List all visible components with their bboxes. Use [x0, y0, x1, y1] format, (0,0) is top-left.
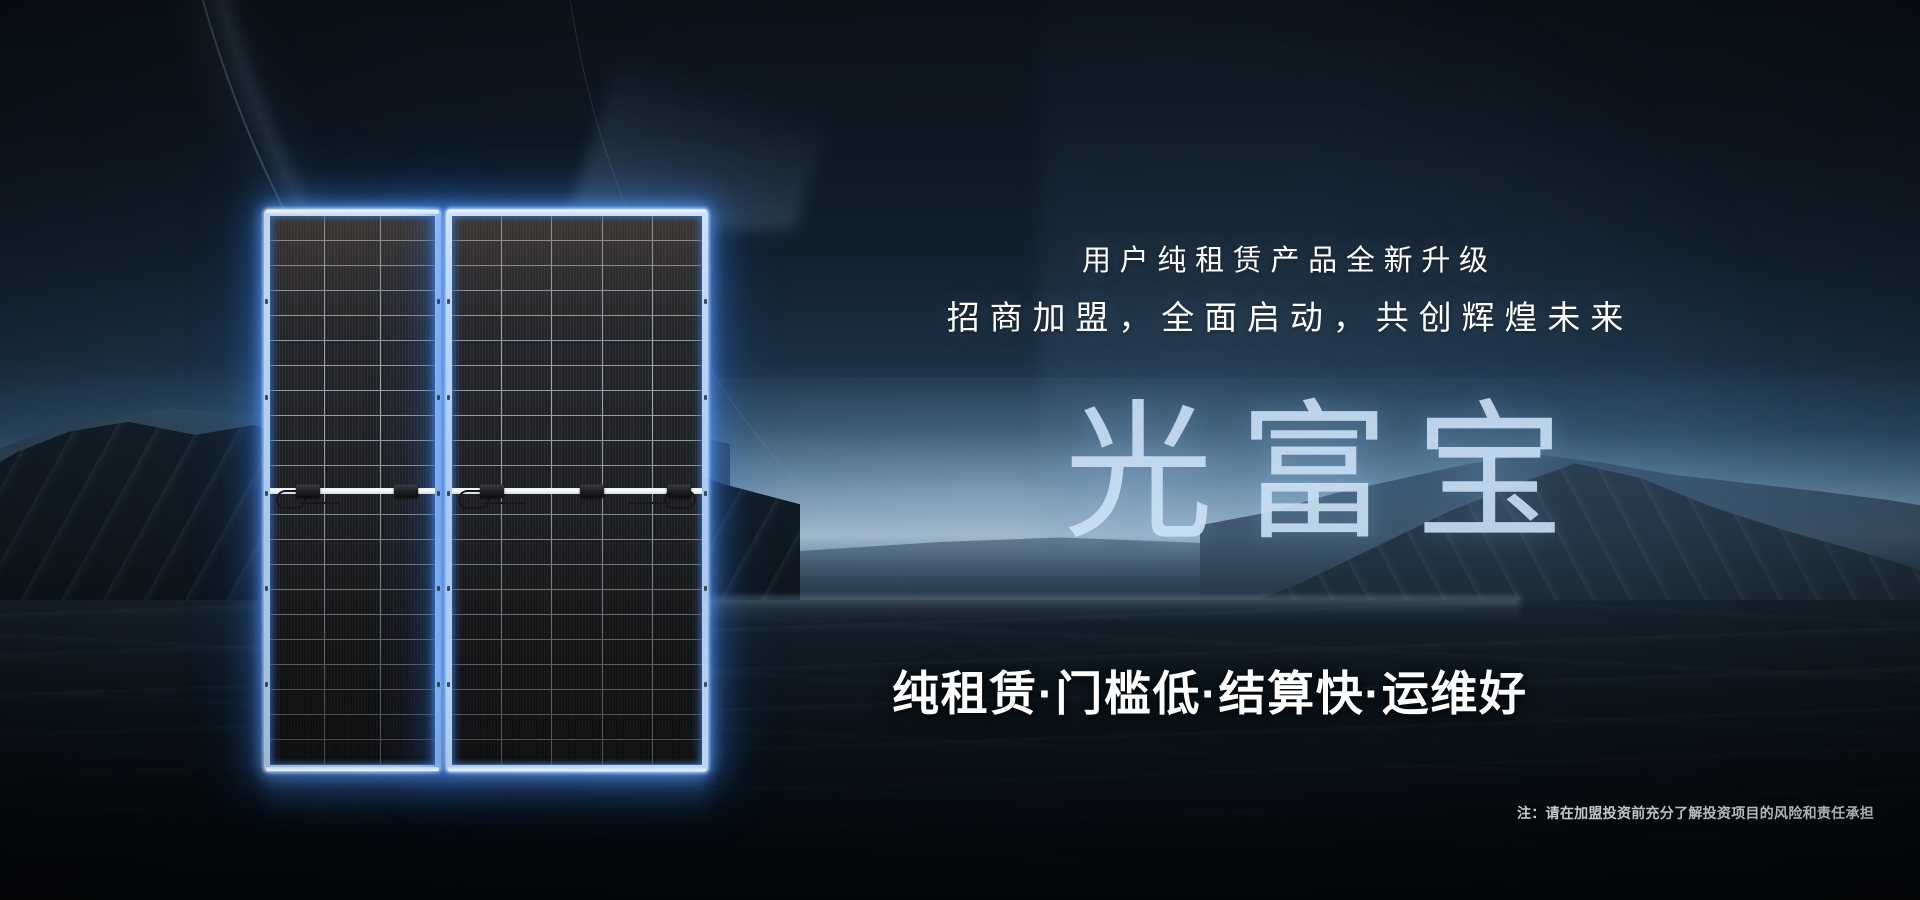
solar-cell [270, 241, 325, 265]
solar-cell [270, 665, 325, 689]
solar-cell [325, 441, 380, 465]
solar-cell-row [270, 565, 435, 590]
solar-cell [653, 416, 702, 440]
solar-cell [552, 615, 602, 639]
solar-cell-row [270, 665, 435, 690]
solar-cell [325, 590, 380, 614]
solar-cell [325, 615, 380, 639]
solar-cell [452, 391, 502, 415]
solar-cell [603, 565, 653, 589]
solar-cell [381, 740, 435, 764]
solar-cell-row [452, 540, 702, 565]
solar-cell [325, 715, 380, 739]
solar-cell-row [270, 715, 435, 740]
solar-cell [653, 391, 702, 415]
solar-panel-assembly [264, 209, 708, 772]
solar-cell [552, 565, 602, 589]
solar-cell [381, 216, 435, 240]
solar-cell [452, 341, 502, 365]
solar-cell [325, 241, 380, 265]
solar-cell [381, 266, 435, 290]
solar-cell [552, 316, 602, 340]
solar-cell [653, 565, 702, 589]
solar-cell [653, 615, 702, 639]
solar-cell [603, 241, 653, 265]
panel-frame-bolt [265, 586, 268, 591]
promotional-banner: 用户纯租赁产品全新升级 招商加盟，全面启动，共创辉煌未来 光富宝 纯租赁·门槛低… [0, 0, 1920, 900]
solar-cell [502, 565, 552, 589]
solar-cell [381, 615, 435, 639]
solar-cell [502, 316, 552, 340]
solar-cell [325, 291, 380, 315]
solar-cell [270, 515, 325, 539]
solar-cell-row [270, 366, 435, 391]
panel-frame-bottom-highlight [266, 767, 439, 771]
solar-cell [603, 341, 653, 365]
panel-frame-bolt [704, 586, 707, 591]
solar-cell [325, 515, 380, 539]
solar-cell [381, 715, 435, 739]
solar-cell-row [452, 640, 702, 665]
solar-cell [325, 316, 380, 340]
solar-cell [603, 640, 653, 664]
solar-cell-row [452, 665, 702, 690]
solar-cell [381, 590, 435, 614]
solar-cell [653, 690, 702, 714]
solar-cell-row [270, 266, 435, 291]
solar-cell [452, 540, 502, 564]
solar-cell [502, 416, 552, 440]
solar-cell [653, 540, 702, 564]
solar-cell-row [452, 441, 702, 466]
solar-cell [653, 291, 702, 315]
panel-frame-bolt [437, 299, 440, 304]
solar-cell [502, 640, 552, 664]
solar-cell [502, 466, 552, 490]
solar-cell [452, 590, 502, 614]
solar-cell [325, 640, 380, 664]
junction-box [667, 484, 691, 497]
solar-cell [452, 241, 502, 265]
solar-cell [452, 515, 502, 539]
solar-cell [381, 391, 435, 415]
junction-box [394, 484, 418, 497]
solar-cell [270, 416, 325, 440]
solar-cell [603, 690, 653, 714]
solar-cell [603, 715, 653, 739]
solar-cell [381, 241, 435, 265]
solar-cell-row [270, 416, 435, 441]
solar-cell [603, 366, 653, 390]
panel-left-cell-grid [270, 216, 435, 765]
solar-cell [325, 416, 380, 440]
solar-cell [270, 441, 325, 465]
solar-cell [502, 241, 552, 265]
solar-cell [452, 216, 502, 240]
solar-cell [325, 466, 380, 490]
solar-cell [502, 740, 552, 764]
solar-cell [381, 341, 435, 365]
solar-cell [653, 266, 702, 290]
solar-cell [502, 515, 552, 539]
solar-cell [603, 266, 653, 290]
solar-cell [452, 291, 502, 315]
solar-cell [502, 366, 552, 390]
solar-cell [381, 441, 435, 465]
solar-cell [381, 665, 435, 689]
solar-cell [381, 565, 435, 589]
solar-cell [452, 565, 502, 589]
panel-cable-tail [484, 502, 526, 505]
solar-cell [381, 540, 435, 564]
solar-cell [653, 341, 702, 365]
panel-frame-bolt [265, 491, 268, 496]
solar-cell [325, 690, 380, 714]
solar-cell [381, 690, 435, 714]
solar-cell [603, 665, 653, 689]
solar-cell [603, 740, 653, 764]
solar-cell-row [452, 515, 702, 540]
solar-cell [502, 615, 552, 639]
panel-cable-tail [628, 502, 670, 505]
solar-cell-row [452, 690, 702, 715]
solar-cell [381, 366, 435, 390]
solar-cell [653, 665, 702, 689]
solar-cell-row [452, 740, 702, 765]
solar-cell [502, 291, 552, 315]
solar-cell [452, 441, 502, 465]
solar-cell [653, 640, 702, 664]
solar-cell [325, 266, 380, 290]
solar-cell [270, 715, 325, 739]
solar-cell [502, 266, 552, 290]
solar-cell [270, 690, 325, 714]
solar-cell [325, 341, 380, 365]
solar-cell [653, 740, 702, 764]
solar-cell-row [270, 291, 435, 316]
solar-cell [552, 590, 602, 614]
solar-cell [502, 665, 552, 689]
solar-cell-row [270, 640, 435, 665]
solar-cell-row [270, 515, 435, 540]
solar-cell [552, 715, 602, 739]
solar-cell [502, 391, 552, 415]
solar-cell [603, 590, 653, 614]
solar-cell-row [452, 241, 702, 266]
panel-frame-bolt [265, 299, 268, 304]
solar-panel-left [264, 209, 441, 772]
solar-cell-row [452, 416, 702, 441]
solar-cell [270, 740, 325, 764]
solar-cell [502, 715, 552, 739]
panel-frame-bolt [437, 491, 440, 496]
solar-cell [603, 615, 653, 639]
solar-cell [452, 690, 502, 714]
solar-cell [452, 366, 502, 390]
solar-cell [603, 540, 653, 564]
solar-cell [502, 690, 552, 714]
panel-frame-bolt [447, 491, 450, 496]
solar-cell [325, 540, 380, 564]
solar-cell [502, 590, 552, 614]
panel-frame-bolt [437, 395, 440, 400]
solar-cell [381, 291, 435, 315]
panel-frame-bolt [704, 395, 707, 400]
solar-cell [452, 615, 502, 639]
solar-cell [270, 590, 325, 614]
solar-cell [270, 615, 325, 639]
solar-cell [653, 715, 702, 739]
solar-cell-row [452, 341, 702, 366]
solar-cell [502, 540, 552, 564]
solar-cell [270, 216, 325, 240]
panel-frame-bolt [704, 491, 707, 496]
solar-cell [552, 416, 602, 440]
solar-cell [603, 441, 653, 465]
solar-cell-row [270, 615, 435, 640]
solar-cell [552, 640, 602, 664]
solar-cell [270, 341, 325, 365]
solar-cell [381, 316, 435, 340]
solar-cell [552, 441, 602, 465]
solar-cell [452, 715, 502, 739]
solar-cell [552, 266, 602, 290]
solar-cell [381, 640, 435, 664]
solar-cell [270, 291, 325, 315]
solar-cell-row [452, 216, 702, 241]
solar-cell [552, 515, 602, 539]
solar-cell [452, 416, 502, 440]
solar-cell-row [452, 366, 702, 391]
solar-cell [552, 241, 602, 265]
solar-cell-row [270, 690, 435, 715]
solar-cell [653, 216, 702, 240]
solar-cell [653, 241, 702, 265]
panel-frame-top-highlight [448, 210, 706, 214]
panel-frame-bolt [704, 682, 707, 687]
solar-cell-row [270, 540, 435, 565]
solar-cell [452, 665, 502, 689]
solar-cell-row [270, 316, 435, 341]
solar-cell [552, 291, 602, 315]
solar-cell [653, 515, 702, 539]
solar-cell [325, 216, 380, 240]
junction-box [580, 484, 604, 497]
solar-cell [653, 441, 702, 465]
solar-cell [552, 690, 602, 714]
solar-cell [552, 740, 602, 764]
solar-cell [603, 291, 653, 315]
solar-cell [552, 391, 602, 415]
solar-cell-row [270, 441, 435, 466]
solar-cell-row [452, 291, 702, 316]
solar-cell [452, 316, 502, 340]
solar-cell-row [270, 391, 435, 416]
panel-right-cell-grid [452, 216, 702, 765]
solar-cell [270, 266, 325, 290]
solar-cell [552, 366, 602, 390]
panel-frame-bolt [447, 682, 450, 687]
solar-cell [552, 341, 602, 365]
solar-cell [270, 640, 325, 664]
solar-cell-row [452, 391, 702, 416]
solar-cell [552, 540, 602, 564]
solar-cell [653, 590, 702, 614]
junction-box [296, 484, 320, 497]
solar-cell [603, 391, 653, 415]
solar-cell [270, 391, 325, 415]
solar-cell-row [452, 615, 702, 640]
solar-cell [270, 366, 325, 390]
panel-frame-bolt [437, 586, 440, 591]
panel-frame-bolt [265, 395, 268, 400]
solar-cell [552, 665, 602, 689]
solar-cell-row [452, 590, 702, 615]
solar-cell [325, 366, 380, 390]
solar-cell [270, 540, 325, 564]
solar-cell [270, 316, 325, 340]
solar-cell [653, 366, 702, 390]
panel-frame-bolt [437, 682, 440, 687]
panel-frame-bolt [447, 299, 450, 304]
solar-cell-row [452, 316, 702, 341]
solar-cell [603, 216, 653, 240]
solar-cell [502, 216, 552, 240]
solar-cell [325, 740, 380, 764]
junction-box [480, 484, 504, 497]
solar-cell [603, 515, 653, 539]
panel-frame-top-highlight [266, 210, 439, 214]
solar-cell [603, 316, 653, 340]
solar-cell [452, 640, 502, 664]
solar-cell [552, 216, 602, 240]
solar-cell [325, 391, 380, 415]
panel-frame-bolt [447, 586, 450, 591]
panel-frame-bolt [265, 682, 268, 687]
solar-cell-row [452, 565, 702, 590]
panel-frame-bottom-highlight [448, 767, 706, 771]
solar-cell [502, 341, 552, 365]
solar-cell [653, 316, 702, 340]
panel-frame-bolt [704, 299, 707, 304]
solar-cell-row [270, 740, 435, 765]
solar-cell [381, 416, 435, 440]
solar-cell [381, 515, 435, 539]
solar-cell-row [270, 590, 435, 615]
solar-cell [452, 740, 502, 764]
solar-cell-row [270, 341, 435, 366]
solar-cell-row [270, 216, 435, 241]
solar-cell-row [452, 266, 702, 291]
panel-frame-bolt [447, 395, 450, 400]
solar-cell [325, 565, 380, 589]
panel-cable-tail [300, 502, 340, 505]
solar-cell [325, 665, 380, 689]
solar-panel-right [446, 209, 708, 772]
solar-cell [270, 565, 325, 589]
solar-cell-row [452, 715, 702, 740]
solar-cell [603, 416, 653, 440]
solar-cell-row [270, 241, 435, 266]
solar-cell [452, 266, 502, 290]
solar-cell [603, 466, 653, 490]
solar-cell [502, 441, 552, 465]
